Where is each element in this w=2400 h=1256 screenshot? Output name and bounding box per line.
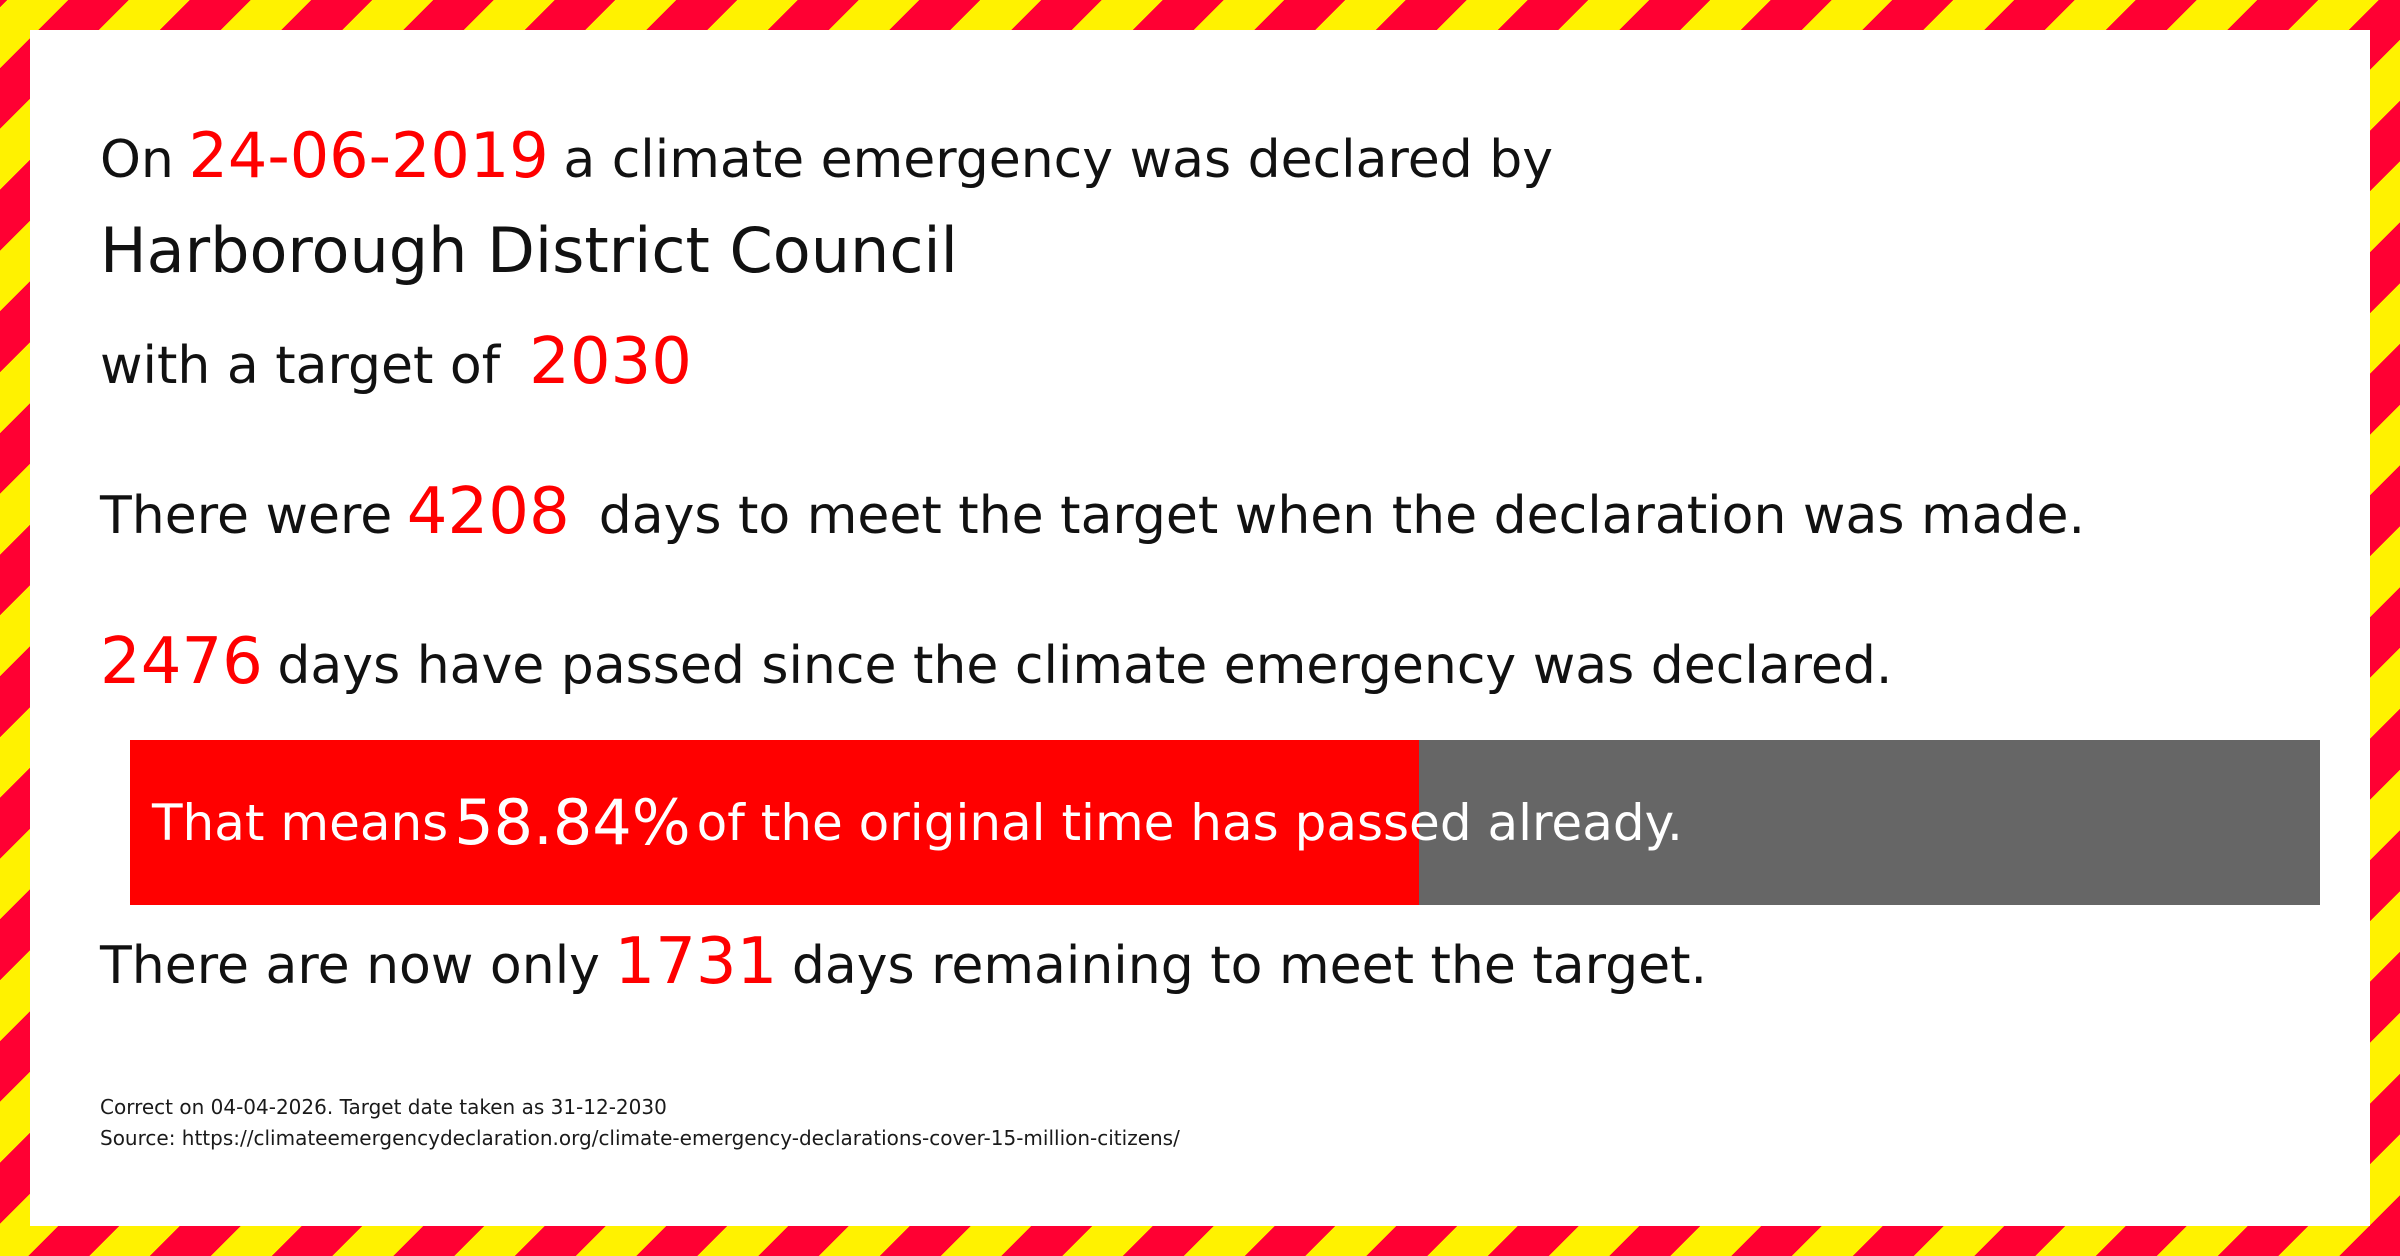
- content-area: On24-06-2019a climate emergency was decl…: [100, 30, 2330, 1226]
- elapsed-sentence: 2476days have passed since the climate e…: [100, 630, 1892, 694]
- time-elapsed-progress-bar: That means58.84%of the original time has…: [130, 740, 2320, 905]
- content-panel: On24-06-2019a climate emergency was decl…: [30, 30, 2370, 1226]
- progress-suffix: of the original time has passed already.: [697, 794, 1683, 852]
- remaining-suffix: days remaining to meet the target.: [792, 936, 1707, 996]
- window-days: 4208: [407, 475, 570, 549]
- declaration-date: 24-06-2019: [188, 119, 548, 192]
- footer-source: Source: https://climateemergencydeclarat…: [100, 1123, 1180, 1154]
- declaration-sentence: On24-06-2019a climate emergency was decl…: [100, 125, 1553, 187]
- target-year: 2030: [529, 325, 692, 399]
- remaining-prefix: There are now only: [100, 936, 600, 996]
- footer-correct-on: Correct on 04-04-2026. Target date taken…: [100, 1092, 1180, 1123]
- progress-prefix: That means: [152, 794, 448, 852]
- window-suffix: days to meet the target when the declara…: [599, 486, 2085, 546]
- progress-percent: 58.84%: [448, 786, 696, 859]
- declaring-authority: Harborough District Council: [100, 220, 958, 282]
- declaration-suffix: a climate emergency was declared by: [563, 130, 1553, 190]
- elapsed-suffix: days have passed since the climate emerg…: [277, 636, 1892, 696]
- window-sentence: There were4208days to meet the target wh…: [100, 480, 2085, 544]
- elapsed-days: 2476: [100, 625, 263, 699]
- declaration-prefix: On: [100, 130, 174, 190]
- remaining-days: 1731: [614, 925, 777, 999]
- remaining-sentence: There are now only1731days remaining to …: [100, 930, 1707, 994]
- footer-notes: Correct on 04-04-2026. Target date taken…: [100, 1092, 1180, 1154]
- target-prefix: with a target of: [100, 336, 500, 396]
- window-prefix: There were: [100, 486, 392, 546]
- target-sentence: with a target of2030: [100, 330, 692, 394]
- progress-bar-label: That means58.84%of the original time has…: [152, 740, 1683, 905]
- hazard-border-card: On24-06-2019a climate emergency was decl…: [0, 0, 2400, 1256]
